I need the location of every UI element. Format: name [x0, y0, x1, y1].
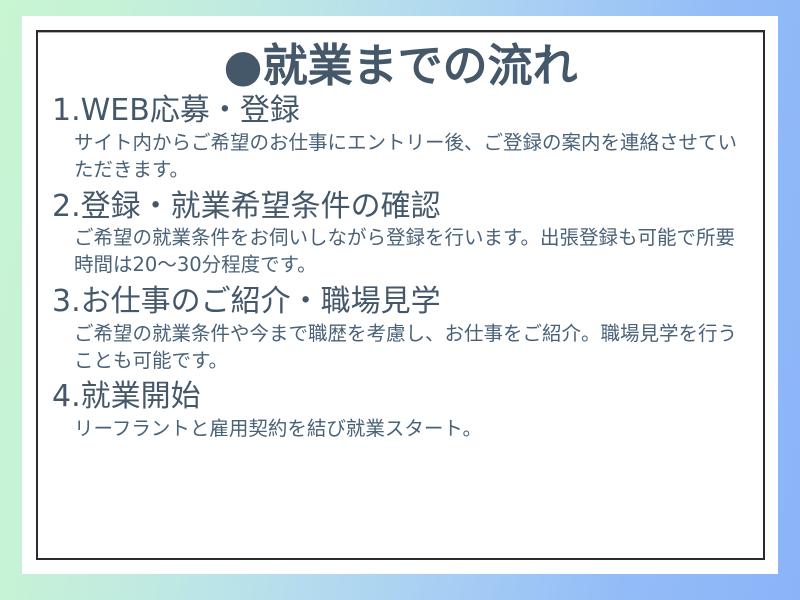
step-body-3: ご希望の就業条件や今まで職歴を考慮し、お仕事をご紹介。職場見学を行うことも可能で…: [52, 321, 751, 375]
step-heading-2: 2.登録・就業希望条件の確認: [52, 189, 751, 226]
step-body-2: ご希望の就業条件をお伺いしながら登録を行います。出張登録も可能で所要時間は20〜…: [52, 225, 751, 279]
list-item: 1.WEB応募・登録 サイト内からご希望のお仕事にエントリー後、ご登録の案内を連…: [52, 93, 751, 183]
list-item: 2.登録・就業希望条件の確認 ご希望の就業条件をお伺いしながら登録を行います。出…: [52, 189, 751, 279]
step-heading-3: 3.お仕事のご紹介・職場見学: [52, 284, 751, 321]
slide-card: ●就業までの流れ 1.WEB応募・登録 サイト内からご希望のお仕事にエントリー後…: [22, 16, 778, 574]
list-item: 4.就業開始 リーフラントと雇用契約を結び就業スタート。: [52, 379, 751, 443]
content-frame: ●就業までの流れ 1.WEB応募・登録 サイト内からご希望のお仕事にエントリー後…: [36, 30, 765, 560]
list-item: 3.お仕事のご紹介・職場見学 ご希望の就業条件や今まで職歴を考慮し、お仕事をご紹…: [52, 284, 751, 374]
steps-list: 1.WEB応募・登録 サイト内からご希望のお仕事にエントリー後、ご登録の案内を連…: [38, 93, 763, 443]
step-heading-4: 4.就業開始: [52, 379, 751, 416]
step-body-4: リーフラントと雇用契約を結び就業スタート。: [52, 416, 751, 443]
step-heading-1: 1.WEB応募・登録: [52, 93, 751, 130]
page-title: ●就業までの流れ: [38, 42, 763, 89]
step-body-1: サイト内からご希望のお仕事にエントリー後、ご登録の案内を連絡させていただきます。: [52, 130, 751, 184]
